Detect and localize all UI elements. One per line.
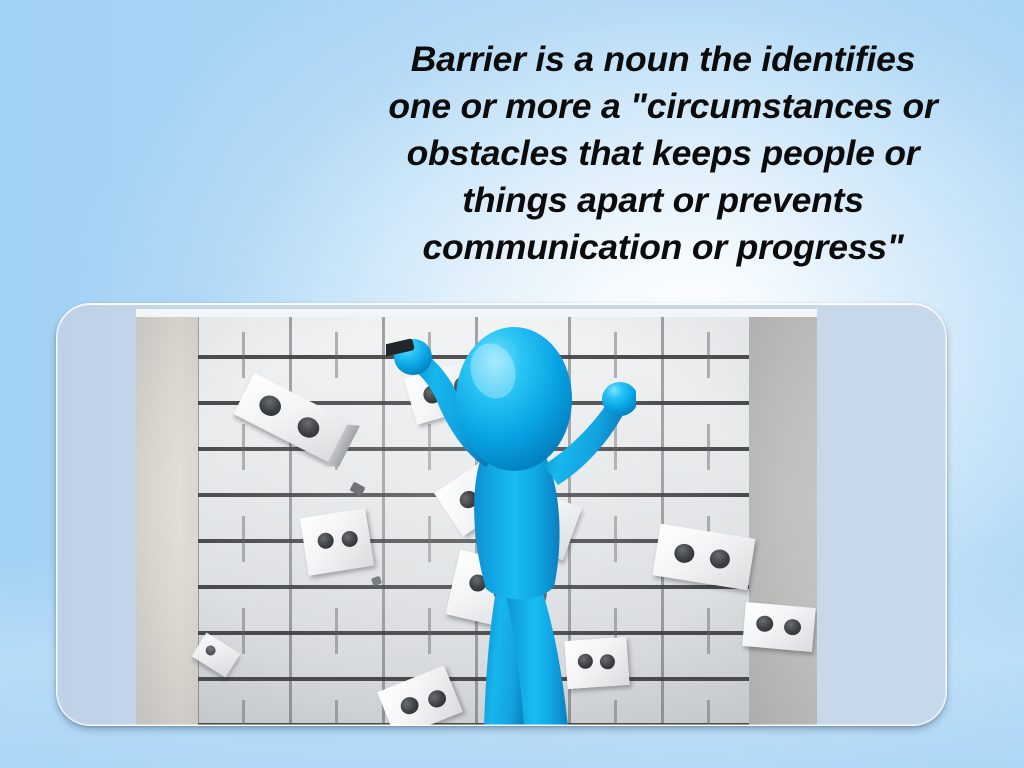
block-hole — [204, 644, 218, 658]
title-line-4: things apart or prevents — [316, 177, 1010, 224]
wall-pillar-right — [749, 309, 817, 726]
blue-figure — [386, 327, 636, 726]
flying-block-3 — [300, 508, 374, 576]
image-frame — [56, 303, 947, 726]
block-hole — [756, 615, 774, 632]
title-line-2: one or more a "circumstances or — [316, 83, 1010, 130]
title-line-1: Barrier is a noun the identifies — [316, 36, 1010, 83]
title-line-3: obstacles that keeps people or — [316, 130, 1010, 177]
block-hole — [256, 392, 285, 420]
figure-torso — [474, 455, 559, 599]
wall-scene — [136, 309, 817, 726]
block-hole — [294, 414, 323, 442]
wall-pillar-left — [136, 309, 198, 726]
title-line-5: communication or progress" — [316, 224, 1010, 271]
block-hole — [783, 618, 801, 635]
block-hole — [673, 542, 696, 564]
block-hole — [341, 530, 359, 548]
slide-canvas: Barrier is a noun the identifies one or … — [0, 0, 1024, 768]
block-hole — [317, 532, 335, 550]
figure-head — [456, 327, 572, 471]
page-title: Barrier is a noun the identifies one or … — [316, 36, 1010, 271]
flying-block-8 — [742, 602, 816, 652]
scene-top-strip — [136, 309, 817, 317]
block-hole — [709, 548, 732, 570]
barrier-illustration — [57, 304, 947, 726]
